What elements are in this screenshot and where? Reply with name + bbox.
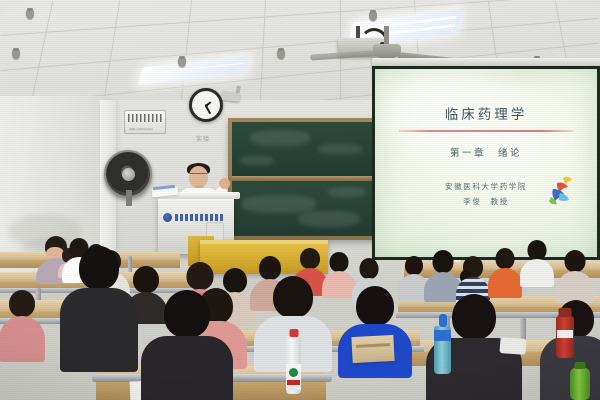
wall-sign: 实验 bbox=[196, 134, 210, 143]
university-emblem-icon bbox=[543, 175, 577, 205]
sprinkler-head bbox=[369, 12, 377, 21]
slide-accent-rule bbox=[399, 130, 572, 132]
student-foreground-black bbox=[66, 246, 132, 362]
tissue-pack bbox=[499, 337, 526, 355]
chalkboard-upper-panel bbox=[232, 122, 378, 176]
control-box-label: wall-control-box bbox=[129, 127, 153, 131]
lecturer-hand bbox=[219, 178, 230, 189]
sprinkler-head bbox=[277, 50, 285, 59]
chalkboard bbox=[228, 118, 382, 240]
ceiling-fan-pole bbox=[384, 26, 389, 46]
student-left-edge-pink bbox=[0, 290, 44, 360]
student-orange-shirt bbox=[488, 248, 522, 296]
wall-fan-arm bbox=[126, 190, 132, 206]
ceiling-fan-motor bbox=[373, 44, 401, 58]
wall-clock bbox=[189, 88, 223, 122]
projection-screen[interactable]: 临床药理学 第一章 绪论 安徽医科大学药学院 李俊 教授 bbox=[372, 66, 600, 260]
sprinkler-head bbox=[178, 58, 186, 67]
fan-hub bbox=[122, 168, 135, 181]
paper-bag-desk bbox=[351, 335, 394, 363]
clock-minute-hand bbox=[205, 105, 211, 114]
slide-title: 临床药理学 bbox=[375, 103, 597, 123]
lecture-hall-photo: wall-control-box 实验 临床药理学 bbox=[0, 0, 600, 400]
glasses-icon bbox=[190, 173, 207, 178]
sports-bottle-blue[interactable] bbox=[434, 326, 451, 374]
sprinkler-head bbox=[26, 10, 34, 19]
slide-subtitle: 第一章 绪论 bbox=[375, 145, 597, 159]
projected-slide: 临床药理学 第一章 绪论 安徽医科大学药学院 李俊 教授 bbox=[375, 69, 597, 257]
student-foreground-center bbox=[148, 290, 226, 400]
wall-control-box: wall-control-box bbox=[124, 110, 166, 134]
thermos-red[interactable] bbox=[556, 316, 574, 358]
student-right-edge bbox=[556, 250, 594, 302]
chalkboard-lower-panel bbox=[232, 181, 378, 236]
podium-university-text bbox=[175, 214, 225, 221]
control-box-vents bbox=[128, 114, 162, 122]
podium-emblem-icon bbox=[163, 213, 172, 222]
bottle-green[interactable] bbox=[570, 368, 590, 400]
water-bottle-clear[interactable] bbox=[286, 336, 301, 394]
clock-center-pin bbox=[205, 104, 208, 107]
sprinkler-head bbox=[12, 50, 20, 59]
student-white-rear bbox=[520, 240, 554, 286]
